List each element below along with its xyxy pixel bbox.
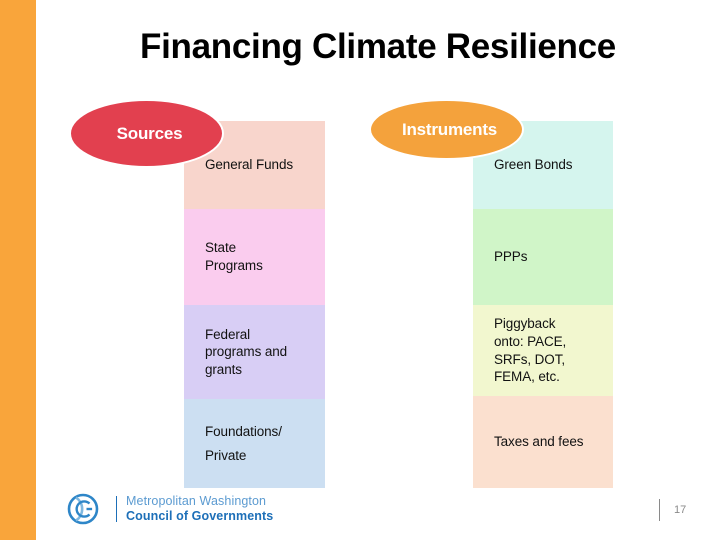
- sources-header-pill[interactable]: Sources: [69, 99, 224, 168]
- sources-band-federal-programs[interactable]: Federal programs and grants: [184, 305, 325, 399]
- page-number-divider: [659, 499, 660, 521]
- logo-divider: [116, 496, 117, 522]
- instruments-header-pill-label: Instruments: [371, 120, 522, 140]
- instruments-band-piggyback-label: Piggyback onto: PACE, SRFs, DOT, FEMA, e…: [494, 315, 566, 385]
- page-number-block: 17: [659, 498, 686, 522]
- sources-band-federal-programs-label: Federal programs and grants: [205, 326, 287, 379]
- accent-band-left: [0, 0, 36, 540]
- slide-canvas: Financing Climate Resilience General Fun…: [0, 0, 720, 540]
- sources-column: General Funds State Programs Federal pro…: [184, 121, 325, 488]
- logo-line-council-of-governments: Council of Governments: [126, 509, 273, 524]
- instruments-band-ppps-label: PPPs: [494, 248, 527, 266]
- page-title: Financing Climate Resilience: [98, 27, 658, 67]
- instruments-band-green-bonds-label: Green Bonds: [494, 156, 572, 174]
- instruments-band-ppps[interactable]: PPPs: [473, 209, 613, 305]
- logo-text: Metropolitan Washington Council of Gover…: [126, 494, 273, 524]
- sources-band-foundations-private[interactable]: Foundations/ Private: [184, 399, 325, 488]
- instruments-band-piggyback[interactable]: Piggyback onto: PACE, SRFs, DOT, FEMA, e…: [473, 305, 613, 396]
- logo-line-metropolitan-washington: Metropolitan Washington: [126, 494, 273, 509]
- instruments-column: Green Bonds PPPs Piggyback onto: PACE, S…: [473, 121, 613, 488]
- sources-band-state-programs[interactable]: State Programs: [184, 209, 325, 305]
- sources-header-pill-label: Sources: [71, 124, 222, 144]
- sources-band-general-funds-label: General Funds: [205, 156, 293, 174]
- sources-band-foundations-private-label: Foundations/ Private: [205, 420, 282, 467]
- organization-logo: Metropolitan Washington Council of Gover…: [62, 492, 273, 526]
- instruments-header-pill[interactable]: Instruments: [369, 99, 524, 160]
- sources-band-state-programs-label: State Programs: [205, 239, 263, 274]
- instruments-band-taxes-and-fees-label: Taxes and fees: [494, 433, 583, 451]
- page-number: 17: [674, 504, 686, 516]
- council-of-governments-logo-icon: [62, 493, 110, 525]
- instruments-band-taxes-and-fees[interactable]: Taxes and fees: [473, 396, 613, 488]
